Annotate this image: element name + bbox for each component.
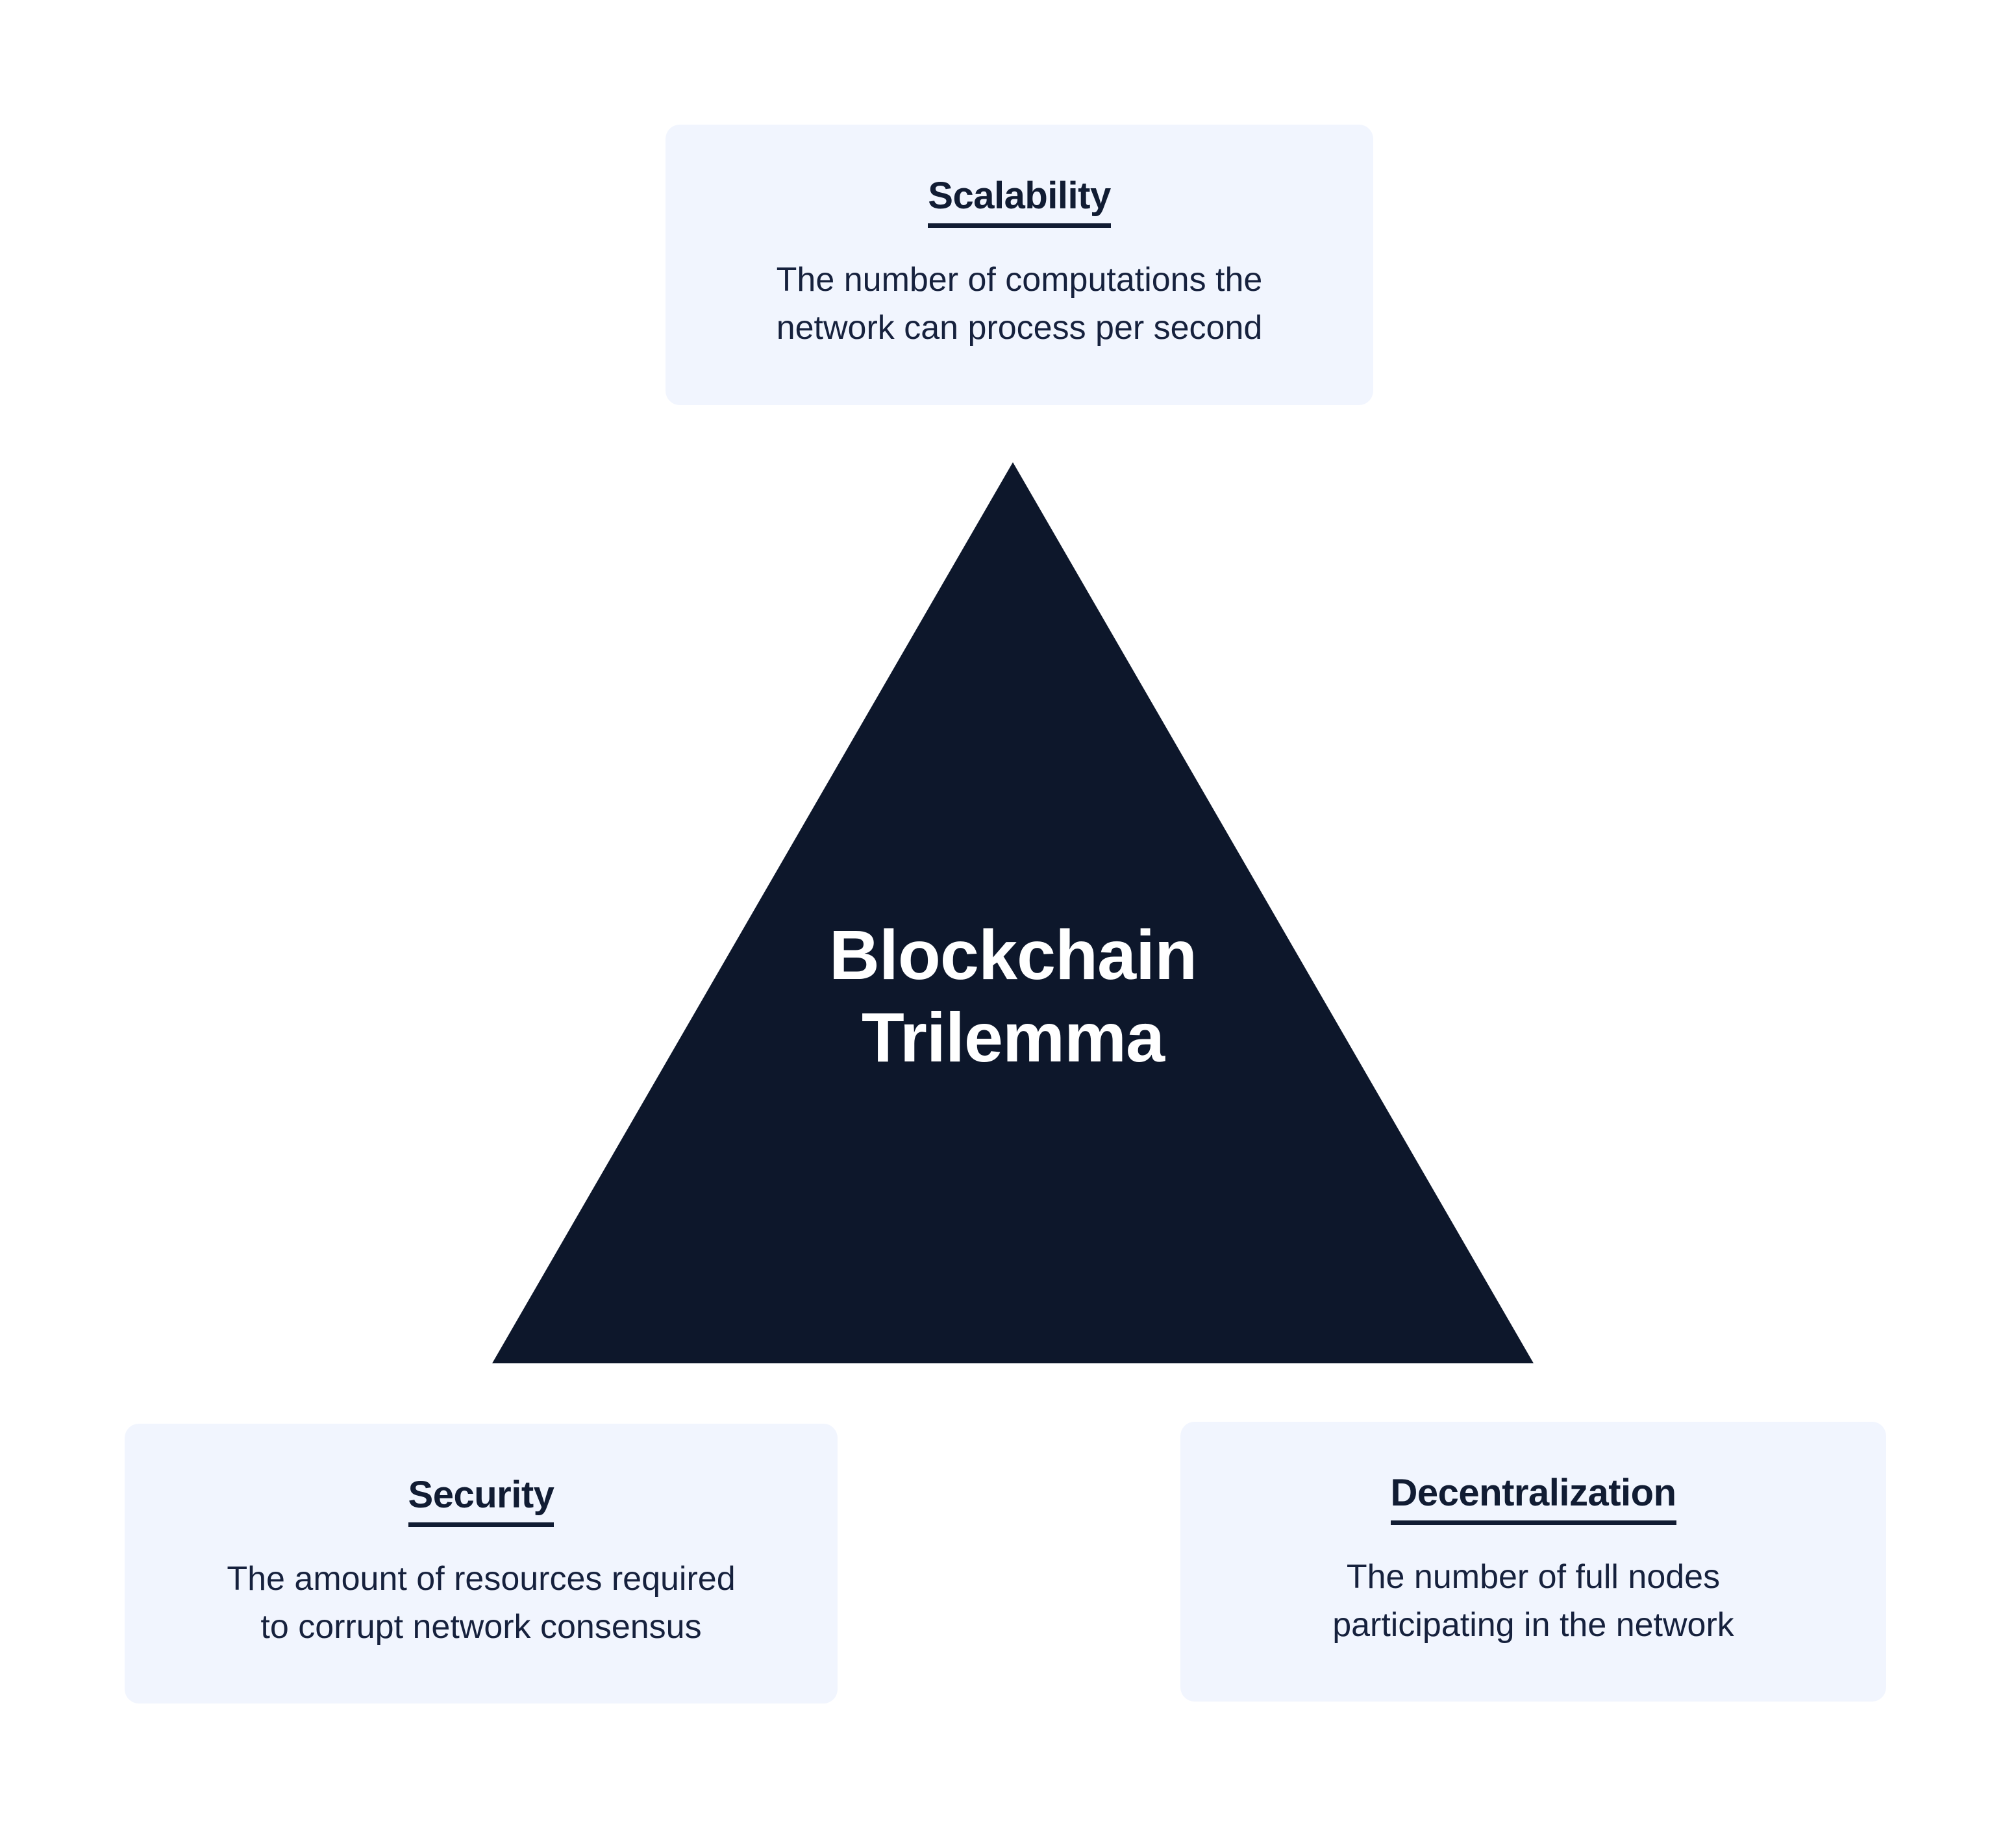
- trilemma-triangle: Blockchain Trilemma: [492, 462, 1534, 1363]
- trilemma-diagram-canvas: Scalability The number of computations t…: [0, 0, 2016, 1834]
- card-decentralization: Decentralization The number of full node…: [1180, 1422, 1886, 1702]
- card-decentralization-title: Decentralization: [1391, 1474, 1676, 1525]
- card-security-description: The amount of resources required to corr…: [227, 1555, 735, 1652]
- card-decentralization-description: The number of full nodes participating i…: [1332, 1554, 1734, 1650]
- card-scalability-description: The number of computations the network c…: [777, 256, 1263, 353]
- triangle-shape-icon: [492, 462, 1534, 1363]
- card-security: Security The amount of resources require…: [125, 1424, 838, 1704]
- card-scalability: Scalability The number of computations t…: [666, 125, 1373, 405]
- card-security-title: Security: [408, 1476, 554, 1527]
- card-scalability-title: Scalability: [928, 177, 1110, 228]
